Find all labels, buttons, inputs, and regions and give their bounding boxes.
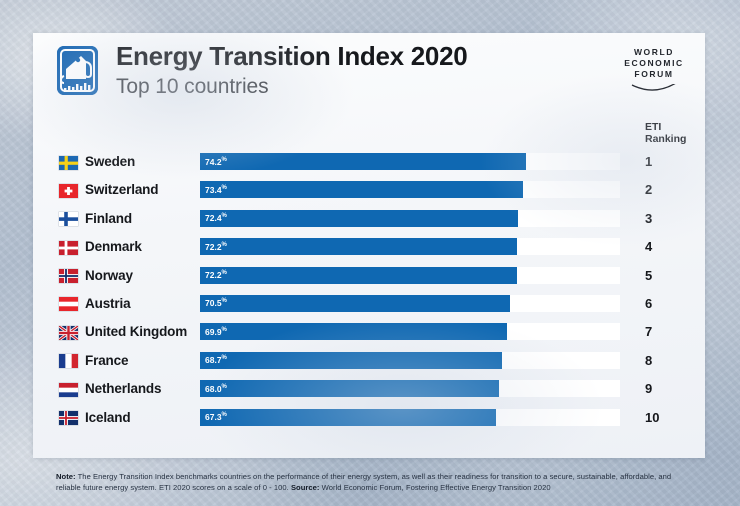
percent-sign: % [222,213,227,219]
bar-value-number: 68.7 [205,355,222,365]
bar-track: 67.3% [200,409,620,426]
country-name: Norway [85,267,133,285]
wef-logo-line-1: WORLD [615,47,693,58]
flag-france-icon [59,354,78,368]
page-subtitle: Top 10 countries [116,73,467,100]
country-name: Sweden [85,153,135,171]
table-row: France68.7%8 [33,349,705,377]
bar-value-label: 74.2% [205,157,227,167]
bar-value-label: 69.9% [205,327,227,337]
flag-switzerland-icon [59,184,78,198]
wef-logo-line-3: FORUM [615,69,693,80]
flag-finland-icon [59,212,78,226]
flag-netherlands-icon [59,383,78,397]
rank-value: 6 [645,295,652,313]
bar-value-label: 72.4% [205,213,227,223]
bar-value-label: 70.5% [205,298,227,308]
rank-value: 1 [645,153,652,171]
bar-track: 73.4% [200,181,620,198]
flag-iceland-icon [59,411,78,425]
percent-sign: % [222,242,227,248]
bar-fill: 73.4% [200,181,523,198]
table-row: Netherlands68.0%9 [33,377,705,405]
bar-value-number: 67.3 [205,412,222,422]
percent-sign: % [222,384,227,390]
bar-value-label: 68.7% [205,355,227,365]
table-row: Finland72.4%3 [33,207,705,235]
footnote-source-label: Source: [291,483,320,492]
wef-logo-line-2: ECONOMIC [615,58,693,69]
rank-value: 4 [645,238,652,256]
country-name: Austria [85,295,130,313]
energy-index-logo-icon [57,46,98,95]
bar-fill: 72.2% [200,267,517,284]
bar-value-number: 73.4 [205,185,222,195]
bar-fill: 69.9% [200,323,507,340]
percent-sign: % [222,270,227,276]
flag-united-kingdom-icon [59,326,78,340]
rank-value: 5 [645,267,652,285]
country-name: Netherlands [85,380,161,398]
bar-track: 72.4% [200,210,620,227]
country-rows: Sweden74.2%1Switzerland73.4%2Finland72.4… [33,150,705,434]
bar-value-label: 72.2% [205,242,227,252]
ranking-column-header: ETI Ranking [645,121,686,145]
rank-value: 3 [645,210,652,228]
rank-value: 2 [645,181,652,199]
bar-value-number: 68.0 [205,384,222,394]
country-name: Iceland [85,409,130,427]
bar-fill: 74.2% [200,153,526,170]
ranking-header-line-2: Ranking [645,133,686,145]
table-row: United Kingdom69.9%7 [33,320,705,348]
bar-fill: 70.5% [200,295,510,312]
percent-sign: % [222,185,227,191]
table-row: Austria70.5%6 [33,292,705,320]
flag-sweden-icon [59,156,78,170]
bar-value-number: 69.9 [205,327,222,337]
title-block: Energy Transition Index 2020 Top 10 coun… [116,41,467,100]
footnote: Note: The Energy Transition Index benchm… [56,471,692,494]
ranking-header-line-1: ETI [645,121,686,133]
bar-value-number: 72.2 [205,242,222,252]
bar-track: 69.9% [200,323,620,340]
rank-value: 7 [645,323,652,341]
bar-value-label: 72.2% [205,270,227,280]
flag-denmark-icon [59,241,78,255]
bar-track: 68.7% [200,352,620,369]
infographic-card: Energy Transition Index 2020 Top 10 coun… [33,33,705,458]
table-row: Iceland67.3%10 [33,406,705,434]
card-header: Energy Transition Index 2020 Top 10 coun… [33,33,705,113]
country-name: United Kingdom [85,323,187,341]
bar-fill: 68.7% [200,352,502,369]
table-row: Norway72.2%5 [33,264,705,292]
rank-value: 8 [645,352,652,370]
rank-value: 9 [645,380,652,398]
bar-track: 70.5% [200,295,620,312]
footnote-note-label: Note: [56,472,76,481]
bar-fill: 72.4% [200,210,518,227]
bar-value-label: 73.4% [205,185,227,195]
bar-value-number: 72.2 [205,270,222,280]
percent-sign: % [222,157,227,163]
wef-swoosh-icon [631,84,677,93]
flag-austria-icon [59,297,78,311]
table-row: Denmark72.2%4 [33,235,705,263]
flag-norway-icon [59,269,78,283]
world-economic-forum-logo: WORLD ECONOMIC FORUM [615,47,693,91]
bar-track: 74.2% [200,153,620,170]
bar-track: 72.2% [200,267,620,284]
footnote-source-text: World Economic Forum, Fostering Effectiv… [320,483,551,492]
bar-value-label: 68.0% [205,384,227,394]
bar-value-number: 70.5 [205,298,222,308]
bar-track: 68.0% [200,380,620,397]
rank-value: 10 [645,409,659,427]
percent-sign: % [222,299,227,305]
country-name: Denmark [85,238,142,256]
bar-fill: 72.2% [200,238,517,255]
percent-sign: % [222,355,227,361]
page-title: Energy Transition Index 2020 [116,41,467,71]
bar-fill: 68.0% [200,380,499,397]
table-row: Switzerland73.4%2 [33,178,705,206]
country-name: Finland [85,210,132,228]
bar-value-number: 74.2 [205,157,222,167]
table-row: Sweden74.2%1 [33,150,705,178]
bar-track: 72.2% [200,238,620,255]
percent-sign: % [222,327,227,333]
bar-value-number: 72.4 [205,213,222,223]
bar-fill: 67.3% [200,409,496,426]
percent-sign: % [222,412,227,418]
country-name: Switzerland [85,181,158,199]
country-name: France [85,352,128,370]
bar-value-label: 67.3% [205,412,227,422]
